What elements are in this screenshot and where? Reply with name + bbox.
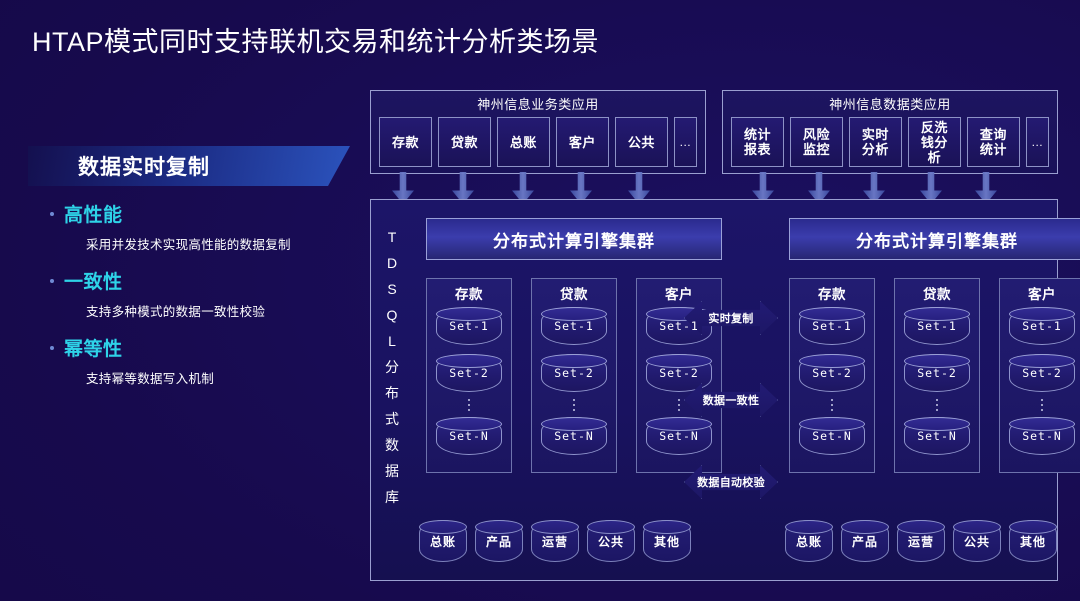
section-banner: 数据实时复制: [28, 146, 350, 186]
set-label: Set-N: [554, 429, 594, 443]
tdsql-label-char: 分: [385, 354, 399, 380]
set-label: Set-2: [917, 366, 957, 380]
tdsql-label-char: 布: [385, 380, 399, 406]
set-column-title: 存款: [818, 283, 846, 303]
bottom-db-label: 其他: [1020, 533, 1046, 550]
app-chip[interactable]: 存款: [379, 117, 432, 167]
vertical-ellipsis-icon: [831, 399, 833, 411]
sync-arrow: 数据自动校验: [684, 465, 778, 499]
app-chip[interactable]: 贷款: [438, 117, 491, 167]
vertical-ellipsis-icon: [468, 399, 470, 411]
set-label: Set-2: [812, 366, 852, 380]
tdsql-label-char: Q: [387, 302, 398, 328]
set-column-title: 贷款: [923, 283, 951, 303]
set-label: Set-2: [1022, 366, 1062, 380]
sync-arrow: 数据一致性: [684, 383, 778, 417]
vertical-ellipsis-icon: [1041, 399, 1043, 411]
bottom-db-label: 运营: [908, 533, 934, 550]
tdsql-label-char: 式: [385, 406, 399, 432]
bottom-db-cylinder[interactable]: 公共: [587, 520, 635, 562]
set-cylinder[interactable]: Set-1: [541, 307, 607, 345]
set-cylinder[interactable]: Set-2: [904, 354, 970, 392]
app-group-title: 神州信息业务类应用: [379, 95, 697, 115]
sync-arrow-label: 数据自动校验: [697, 474, 765, 490]
set-cylinder[interactable]: Set-1: [904, 307, 970, 345]
vertical-ellipsis-icon: [573, 399, 575, 411]
tdsql-label-char: 据: [385, 458, 399, 484]
tdsql-label-char: 数: [385, 432, 399, 458]
app-chip[interactable]: 统计报表: [731, 117, 784, 167]
set-label: Set-2: [554, 366, 594, 380]
app-chip-row: 存款 贷款 总账 客户 公共 …: [379, 117, 697, 167]
bottom-db-label: 公共: [598, 533, 624, 550]
set-label: Set-N: [449, 429, 489, 443]
app-group-data: 神州信息数据类应用 统计报表 风险监控 实时分析 反洗钱分析 查询统计 …: [722, 90, 1058, 174]
bottom-db-label: 产品: [852, 533, 878, 550]
feature-description: 支持幂等数据写入机制: [28, 368, 350, 387]
bottom-db-cylinder[interactable]: 公共: [953, 520, 1001, 562]
set-label: Set-1: [554, 319, 594, 333]
set-cylinder[interactable]: Set-N: [904, 417, 970, 455]
bottom-db-cylinder[interactable]: 运营: [897, 520, 945, 562]
feature-item: 一致性 支持多种模式的数据一致性校验: [28, 267, 350, 320]
set-column: 存款 Set-1 Set-2 Set-N: [789, 278, 875, 473]
bottom-db-cylinder[interactable]: 其他: [1009, 520, 1057, 562]
page-title: HTAP模式同时支持联机交易和统计分析类场景: [32, 20, 599, 59]
set-column: 客户 Set-1 Set-2 Set-N: [999, 278, 1080, 473]
feature-description: 支持多种模式的数据一致性校验: [28, 301, 350, 320]
set-column-group: 存款 Set-1 Set-2 Set-N 贷款 Set-1: [789, 278, 1080, 473]
set-cylinder[interactable]: Set-N: [1009, 417, 1075, 455]
bottom-db-cylinder[interactable]: 运营: [531, 520, 579, 562]
sync-arrow-label: 数据一致性: [703, 392, 760, 408]
cluster-right: 分布式计算引擎集群 存款 Set-1 Set-2 Set-N: [789, 218, 1080, 473]
set-label: Set-1: [1022, 319, 1062, 333]
set-cylinder[interactable]: Set-2: [541, 354, 607, 392]
app-chip-row: 统计报表 风险监控 实时分析 反洗钱分析 查询统计 …: [731, 117, 1049, 167]
set-cylinder[interactable]: Set-N: [799, 417, 865, 455]
sync-arrow-label: 实时复制: [708, 310, 753, 326]
slide-root: HTAP模式同时支持联机交易和统计分析类场景 数据实时复制 高性能 采用并发技术…: [0, 0, 1080, 601]
app-chip[interactable]: 查询统计: [967, 117, 1020, 167]
section-banner-label: 数据实时复制: [78, 151, 210, 181]
set-column-title: 客户: [1028, 283, 1056, 303]
bottom-db-label: 总账: [430, 533, 456, 550]
feature-title: 一致性: [64, 267, 123, 294]
bottom-db-cylinder[interactable]: 总账: [785, 520, 833, 562]
set-label: Set-N: [917, 429, 957, 443]
app-chip[interactable]: 实时分析: [849, 117, 902, 167]
cluster-left: 分布式计算引擎集群 存款 Set-1 Set-2 Set-N: [426, 218, 722, 473]
set-column: 客户 Set-1 Set-2 Set-N: [636, 278, 722, 473]
set-cylinder[interactable]: Set-N: [436, 417, 502, 455]
bottom-db-cylinder[interactable]: 产品: [841, 520, 889, 562]
set-cylinder[interactable]: Set-1: [436, 307, 502, 345]
feature-title: 高性能: [64, 200, 123, 227]
app-chip[interactable]: 总账: [497, 117, 550, 167]
set-label: Set-1: [449, 319, 489, 333]
bottom-db-cylinder[interactable]: 总账: [419, 520, 467, 562]
app-chip-more[interactable]: …: [1026, 117, 1049, 167]
set-column-title: 存款: [455, 283, 483, 303]
compute-engine-cluster-box: 分布式计算引擎集群: [789, 218, 1080, 260]
set-label: Set-2: [659, 366, 699, 380]
app-chip[interactable]: 公共: [615, 117, 668, 167]
feature-title: 幂等性: [64, 334, 123, 361]
set-cylinder[interactable]: Set-N: [541, 417, 607, 455]
app-chip[interactable]: 客户: [556, 117, 609, 167]
set-cylinder[interactable]: Set-1: [799, 307, 865, 345]
bottom-db-label: 总账: [796, 533, 822, 550]
set-column-title: 贷款: [560, 283, 588, 303]
app-chip[interactable]: 反洗钱分析: [908, 117, 961, 167]
feature-description: 采用并发技术实现高性能的数据复制: [28, 234, 350, 253]
set-label: Set-1: [659, 319, 699, 333]
set-label: Set-1: [917, 319, 957, 333]
app-group-title: 神州信息数据类应用: [731, 95, 1049, 115]
tdsql-label-char: S: [387, 276, 396, 302]
set-cylinder[interactable]: Set-2: [646, 354, 712, 392]
bottom-db-label: 公共: [964, 533, 990, 550]
set-label: Set-1: [812, 319, 852, 333]
tdsql-label-char: 库: [385, 484, 399, 510]
bottom-db-cylinder[interactable]: 产品: [475, 520, 523, 562]
bottom-db-row-right: 总账 产品 运营 公共 其他: [785, 520, 1057, 562]
set-column: 存款 Set-1 Set-2 Set-N: [426, 278, 512, 473]
app-group-business: 神州信息业务类应用 存款 贷款 总账 客户 公共 …: [370, 90, 706, 174]
set-column-title: 客户: [665, 283, 693, 303]
app-chip[interactable]: 风险监控: [790, 117, 843, 167]
feature-header: 一致性: [28, 267, 350, 294]
feature-item: 幂等性 支持幂等数据写入机制: [28, 334, 350, 387]
set-cylinder[interactable]: Set-2: [1009, 354, 1075, 392]
set-label: Set-N: [1022, 429, 1062, 443]
app-chip-more[interactable]: …: [674, 117, 697, 167]
feature-header: 高性能: [28, 200, 350, 227]
set-label: Set-2: [449, 366, 489, 380]
feature-header: 幂等性: [28, 334, 350, 361]
vertical-ellipsis-icon: [936, 399, 938, 411]
tdsql-label-char: D: [387, 250, 397, 276]
set-cylinder[interactable]: Set-2: [799, 354, 865, 392]
bullet-dot-icon: [50, 212, 54, 216]
feature-item: 高性能 采用并发技术实现高性能的数据复制: [28, 200, 350, 253]
vertical-ellipsis-icon: [678, 399, 680, 411]
set-label: Set-N: [659, 429, 699, 443]
set-cylinder[interactable]: Set-2: [436, 354, 502, 392]
bottom-db-label: 运营: [542, 533, 568, 550]
tdsql-label-char: L: [388, 328, 396, 354]
bottom-db-row-left: 总账 产品 运营 公共 其他: [419, 520, 691, 562]
set-column: 贷款 Set-1 Set-2 Set-N: [894, 278, 980, 473]
bottom-db-label: 其他: [654, 533, 680, 550]
set-cylinder[interactable]: Set-N: [646, 417, 712, 455]
tdsql-vertical-label: T D S Q L 分 布 式 数 据 库: [375, 224, 409, 510]
bottom-db-label: 产品: [486, 533, 512, 550]
set-column-group: 存款 Set-1 Set-2 Set-N 贷款 Set-1: [426, 278, 722, 473]
bottom-db-cylinder[interactable]: 其他: [643, 520, 691, 562]
set-cylinder[interactable]: Set-1: [1009, 307, 1075, 345]
left-panel: 数据实时复制 高性能 采用并发技术实现高性能的数据复制 一致性 支持多种模式的数…: [28, 146, 350, 387]
tdsql-panel: T D S Q L 分 布 式 数 据 库 分布式计算引擎集群 存款 Set-1: [370, 199, 1058, 581]
set-label: Set-N: [812, 429, 852, 443]
bullet-dot-icon: [50, 279, 54, 283]
set-column: 贷款 Set-1 Set-2 Set-N: [531, 278, 617, 473]
compute-engine-cluster-box: 分布式计算引擎集群: [426, 218, 722, 260]
bullet-dot-icon: [50, 346, 54, 350]
tdsql-label-char: T: [388, 224, 397, 250]
